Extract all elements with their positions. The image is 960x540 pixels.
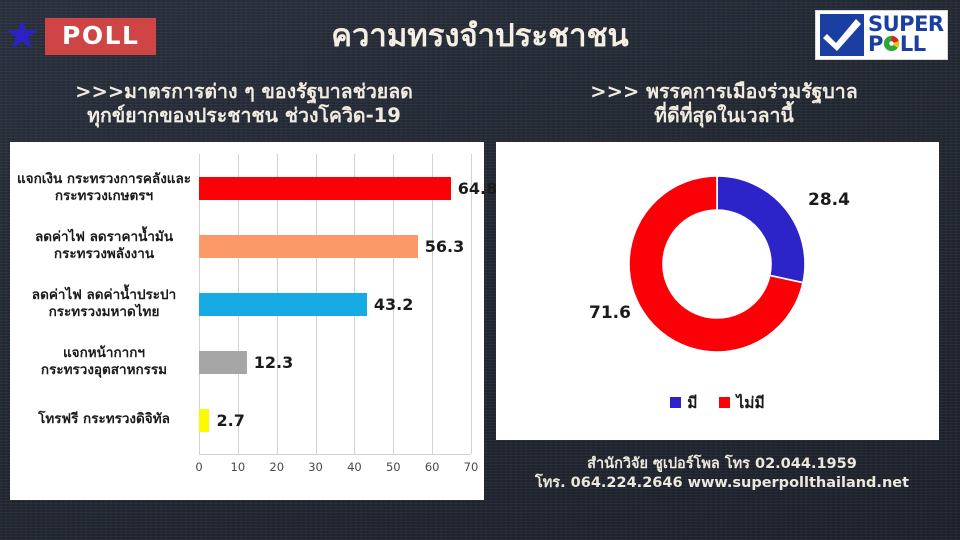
logo-wordmark: SUPER P LL bbox=[868, 15, 944, 55]
x-axis-tick-label: 40 bbox=[347, 460, 362, 474]
subtitle-left-line1: >>>มาตรการต่าง ๆ ของรัฐบาลช่วยลด bbox=[4, 80, 484, 104]
donut-chart-panel: 28.4 71.6 มีไม่มี bbox=[496, 142, 939, 440]
donut-value-label-mi: 28.4 bbox=[808, 190, 850, 210]
x-axis-tick-label: 0 bbox=[195, 460, 202, 474]
bar bbox=[199, 293, 367, 316]
bar-value-label: 2.7 bbox=[216, 409, 244, 432]
bar-category-label-line1: โทรฟรี กระทรวงดิจิทัล bbox=[38, 411, 170, 428]
x-axis-tick-label: 20 bbox=[269, 460, 284, 474]
x-axis-tick-label: 10 bbox=[231, 460, 246, 474]
donut-value-label-maimi: 71.6 bbox=[589, 303, 631, 323]
subtitle-right: >>> พรรคการเมืองร่วมรัฐบาล ที่ดีที่สุดใน… bbox=[492, 80, 956, 128]
bar bbox=[199, 235, 418, 258]
bar-category-label-line1: ลดค่าไฟ ลดราคาน้ำมัน bbox=[35, 229, 173, 246]
bar bbox=[199, 409, 209, 432]
legend-item[interactable]: ไม่มี bbox=[719, 390, 764, 415]
bar-chart-panel: แจกเงิน กระทรวงการคลังและกระทรวงเกษตรฯ64… bbox=[10, 142, 484, 500]
subtitle-right-line2: ที่ดีที่สุดในเวลานี้ bbox=[492, 104, 956, 128]
x-axis-tick-label: 70 bbox=[464, 460, 479, 474]
footer-line2: โทร. 064.224.2646 www.superpollthailand.… bbox=[496, 474, 948, 493]
legend-swatch bbox=[670, 397, 681, 408]
legend-label: มี bbox=[687, 390, 697, 415]
logo-poll-text: P LL bbox=[868, 35, 944, 55]
footer-line1: สำนักวิจัย ซูเปอร์โพล โทร 02.044.1959 bbox=[496, 455, 948, 474]
bar-category-label-line1: แจกหน้ากากฯ bbox=[63, 345, 145, 362]
bar-category-label-line1: ลดค่าไฟ ลดค่าน้ำประปา bbox=[32, 287, 176, 304]
bar-chart-axis-line bbox=[199, 454, 471, 455]
bar-category-label-line1: แจกเงิน กระทรวงการคลังและ bbox=[17, 171, 191, 188]
subtitle-left-line2: ทุกข์ยากของประชาชน ช่วงโควิด-19 bbox=[4, 104, 484, 128]
bar-category-label-line2: กระทรวงพลังงาน bbox=[54, 246, 154, 263]
bar-category-label-line2: กระทรวงอุตสาหกรรม bbox=[41, 362, 167, 379]
header: POLL ความทรงจำประชาชน SUPER P L bbox=[0, 0, 960, 140]
bar-category-label-line2: กระทรวงมหาดไทย bbox=[49, 304, 160, 321]
logo-poll-prefix: P bbox=[868, 35, 883, 54]
bar-row: ลดค่าไฟ ลดราคาน้ำมันกระทรวงพลังงาน56.3 bbox=[10, 218, 484, 274]
bar bbox=[199, 351, 247, 374]
pie-o-icon bbox=[883, 35, 900, 55]
legend-swatch bbox=[719, 397, 730, 408]
bar-value-label: 12.3 bbox=[254, 351, 293, 374]
bar-row: แจกเงิน กระทรวงการคลังและกระทรวงเกษตรฯ64… bbox=[10, 160, 484, 216]
donut-legend: มีไม่มี bbox=[496, 390, 939, 415]
donut-slice bbox=[717, 176, 805, 283]
superpoll-logo: SUPER P LL bbox=[815, 10, 948, 60]
subtitle-left: >>>มาตรการต่าง ๆ ของรัฐบาลช่วยลด ทุกข์ยา… bbox=[4, 80, 484, 128]
bar-category-label: ลดค่าไฟ ลดค่าน้ำประปากระทรวงมหาดไทย bbox=[14, 276, 194, 332]
x-axis-tick-label: 50 bbox=[386, 460, 401, 474]
x-axis-tick-label: 30 bbox=[308, 460, 323, 474]
bar-value-label: 64.8 bbox=[458, 177, 497, 200]
bar-value-label: 56.3 bbox=[425, 235, 464, 258]
bar-category-label: แจกหน้ากากฯกระทรวงอุตสาหกรรม bbox=[14, 334, 194, 390]
bar-row: โทรฟรี กระทรวงดิจิทัล2.7 bbox=[10, 392, 484, 448]
bar-chart: แจกเงิน กระทรวงการคลังและกระทรวงเกษตรฯ64… bbox=[10, 142, 484, 500]
logo-poll-suffix: LL bbox=[900, 35, 926, 54]
x-axis-tick-label: 60 bbox=[425, 460, 440, 474]
bar-category-label-line2: กระทรวงเกษตรฯ bbox=[55, 188, 153, 205]
legend-label: ไม่มี bbox=[736, 390, 764, 415]
footer-contact: สำนักวิจัย ซูเปอร์โพล โทร 02.044.1959 โท… bbox=[496, 455, 948, 493]
bar-category-label: แจกเงิน กระทรวงการคลังและกระทรวงเกษตรฯ bbox=[14, 160, 194, 216]
check-icon bbox=[820, 14, 864, 56]
bar bbox=[199, 177, 451, 200]
subtitle-right-line1: >>> พรรคการเมืองร่วมรัฐบาล bbox=[492, 80, 956, 104]
bar-row: ลดค่าไฟ ลดค่าน้ำประปากระทรวงมหาดไทย43.2 bbox=[10, 276, 484, 332]
bar-category-label: ลดค่าไฟ ลดราคาน้ำมันกระทรวงพลังงาน bbox=[14, 218, 194, 274]
bar-row: แจกหน้ากากฯกระทรวงอุตสาหกรรม12.3 bbox=[10, 334, 484, 390]
bar-value-label: 43.2 bbox=[374, 293, 413, 316]
donut-svg bbox=[496, 142, 939, 382]
legend-item[interactable]: มี bbox=[670, 390, 697, 415]
donut-chart: 28.4 71.6 มีไม่มี bbox=[496, 142, 939, 440]
bar-category-label: โทรฟรี กระทรวงดิจิทัล bbox=[14, 392, 194, 448]
